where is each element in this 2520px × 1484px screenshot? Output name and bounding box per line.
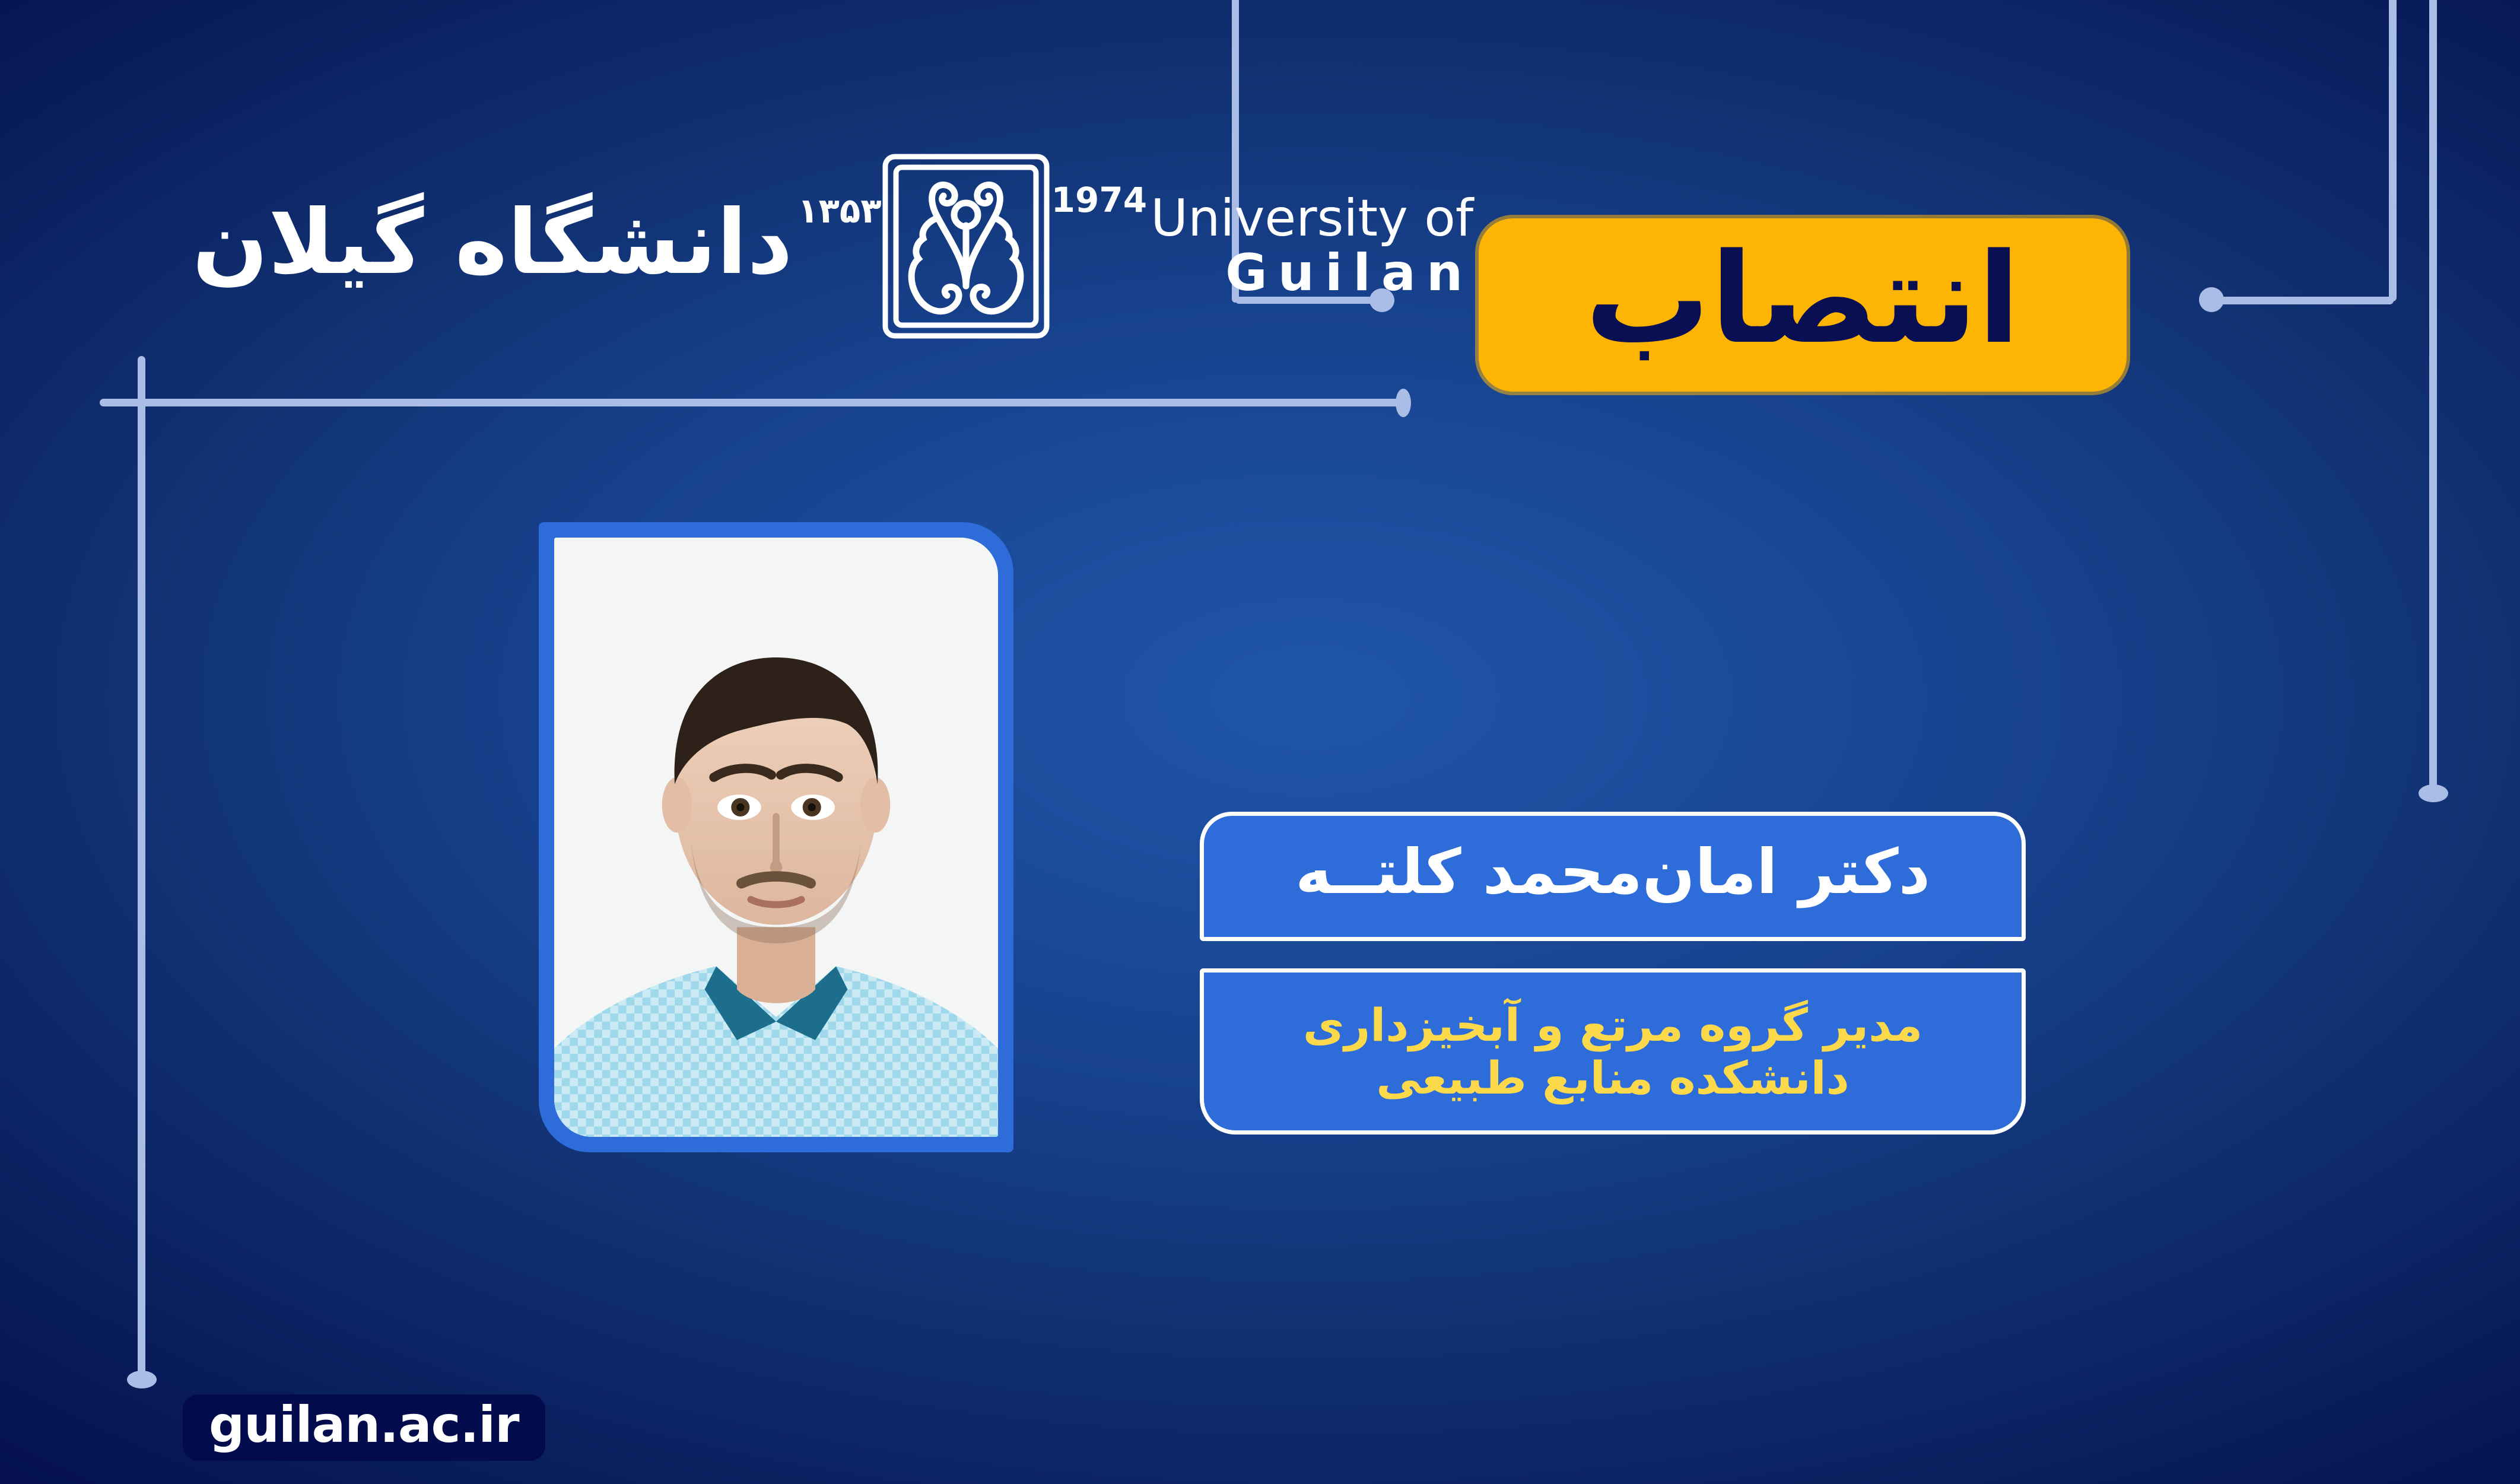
decorative-line-horizontal-right (2218, 297, 2394, 304)
headline-text: انتصاب (1585, 237, 2020, 361)
person-name: دکتر امان‌محمد کلتــه (1295, 841, 1930, 903)
decorative-dot-right (2199, 287, 2224, 312)
university-name-en-line1: University of (1151, 192, 1473, 245)
decorative-dot-vertical-left (127, 1371, 157, 1388)
person-title-line1: مدیر گروه مرتع و آبخیزداری (1303, 1000, 1922, 1050)
person-name-card: دکتر امان‌محمد کلتــه (1200, 812, 2026, 941)
decorative-line-horizontal-left (100, 399, 1405, 406)
website-badge[interactable]: guilan.ac.ir (183, 1394, 545, 1461)
decorative-line-vertical-far-right (2429, 0, 2437, 794)
university-name-fa: دانشگاه گیلان (178, 198, 793, 287)
person-title-card: مدیر گروه مرتع و آبخیزداری دانشکده منابع… (1200, 968, 2026, 1135)
decorative-dot-far-right (2419, 784, 2448, 802)
decorative-line-vertical-left (138, 356, 145, 1381)
decorative-line-vertical-right (2389, 0, 2397, 301)
university-name-en-line2: Guilan (1151, 245, 1473, 301)
university-name-en: University of Guilan (1151, 192, 1479, 301)
butterfly-emblem-icon (877, 148, 1055, 344)
person-title-line2: دانشکده منابع طبیعی (1376, 1053, 1849, 1103)
portrait-photo (554, 538, 998, 1137)
founding-year-fa: ۱۳۵۳ (797, 190, 882, 231)
decorative-dot-horizontal-left (1396, 389, 1411, 417)
university-logo: دانشگاه گیلان ۱۳۵۳ 1974 University of Gu… (178, 148, 1216, 344)
website-url: guilan.ac.ir (209, 1400, 519, 1450)
portrait-frame (539, 522, 1013, 1152)
founding-year-en: 1974 (1051, 180, 1147, 220)
announcement-poster: دانشگاه گیلان ۱۳۵۳ 1974 University of Gu… (0, 0, 2520, 1484)
headline-badge: انتصاب (1479, 218, 2127, 392)
